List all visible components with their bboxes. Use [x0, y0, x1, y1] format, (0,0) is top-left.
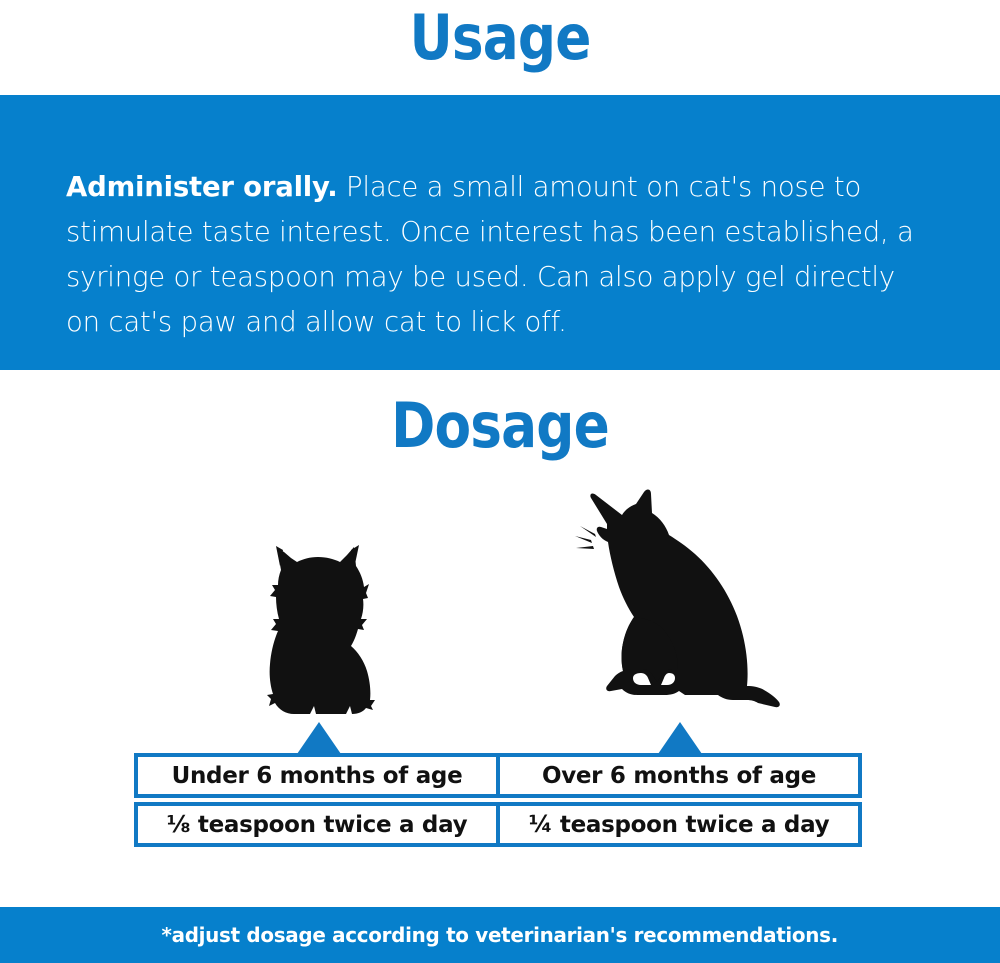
- dosage-amount-under-6-months: ⅛ teaspoon twice a day: [134, 802, 500, 847]
- dosage-amount-over-6-months: ¼ teaspoon twice a day: [496, 802, 862, 847]
- table-row: ⅛ teaspoon twice a day ¼ teaspoon twice …: [134, 802, 862, 847]
- table-row: Under 6 months of age Over 6 months of a…: [134, 753, 862, 798]
- dosage-illustration-area: [0, 470, 1000, 760]
- footer-disclaimer-text: *adjust dosage according to veterinarian…: [162, 923, 839, 947]
- dosage-age-over-6-months: Over 6 months of age: [496, 753, 862, 798]
- dosage-age-under-6-months: Under 6 months of age: [134, 753, 500, 798]
- page-title-usage: Usage: [70, 2, 930, 74]
- usage-lead-text: Administer orally.: [66, 171, 337, 203]
- footer-band: *adjust dosage according to veterinarian…: [0, 907, 1000, 963]
- pointer-triangle-adult-cat: [658, 722, 702, 754]
- dosage-table: Under 6 months of age Over 6 months of a…: [134, 753, 862, 847]
- adult-cat-silhouette-icon: [565, 488, 795, 720]
- pointer-triangle-kitten: [297, 722, 341, 754]
- usage-section-band: Administer orally. Place a small amount …: [0, 95, 1000, 370]
- page-title-dosage: Dosage: [70, 390, 930, 462]
- kitten-silhouette-icon: [250, 540, 390, 720]
- usage-instructions-text: Administer orally. Place a small amount …: [66, 165, 936, 345]
